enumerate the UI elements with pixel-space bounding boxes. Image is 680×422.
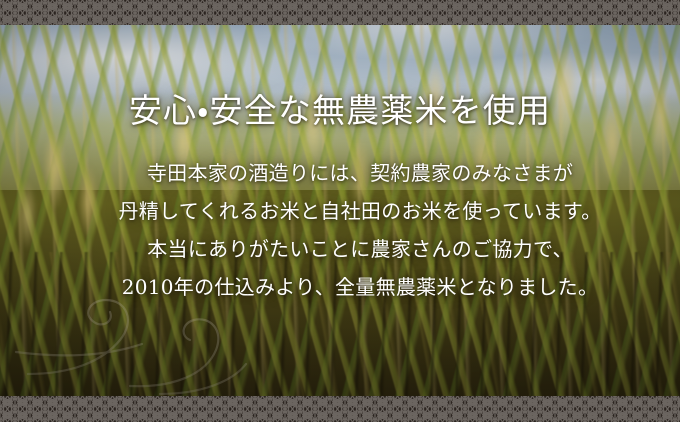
asanoha-pattern-bottom xyxy=(0,396,680,422)
promo-banner: 安心・安全な無農薬米を使用 寺田本家の酒造りには、契約農家のみなさまが 丹精して… xyxy=(0,0,680,422)
rice-field-photo xyxy=(0,0,680,422)
asanoha-pattern-top xyxy=(0,0,680,25)
photo-tone-overlay xyxy=(0,0,680,422)
